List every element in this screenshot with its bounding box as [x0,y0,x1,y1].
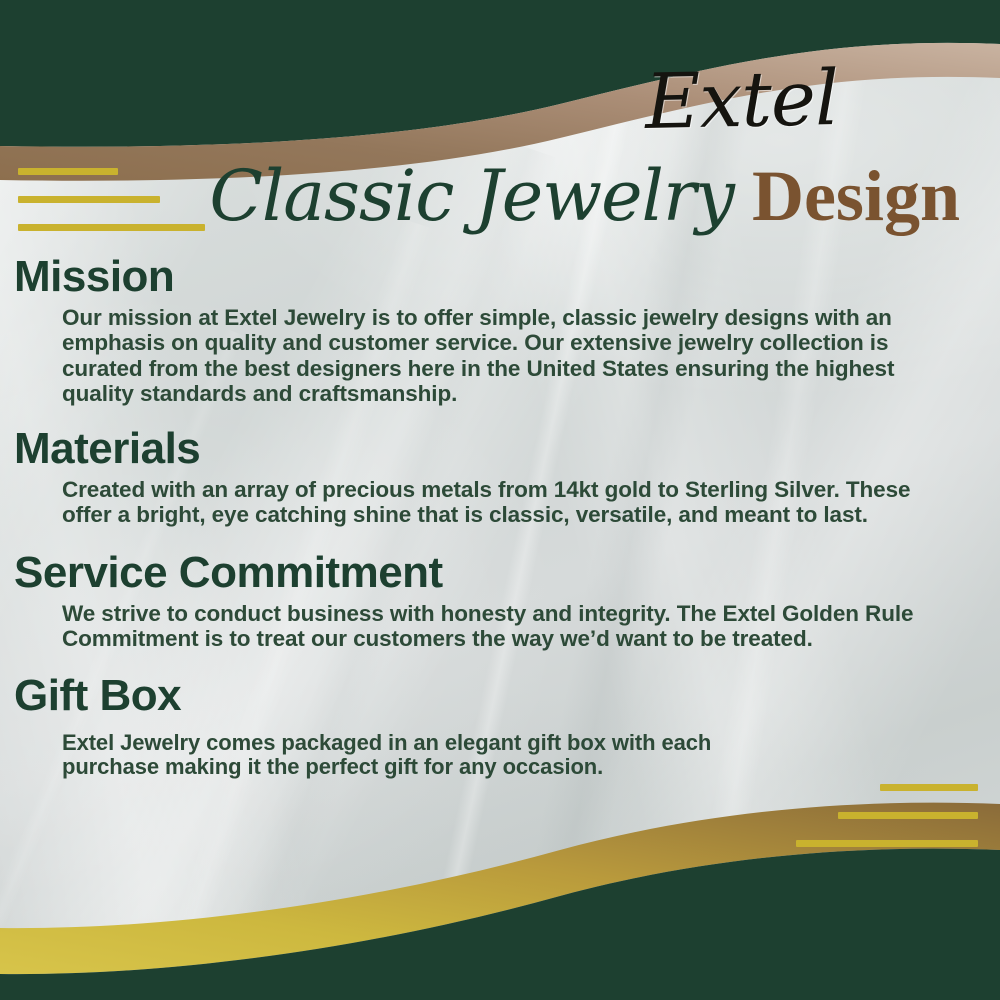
section-body: Created with an array of precious metals… [62,477,966,527]
title-primary: Classic Jewelry [209,161,734,231]
decorative-rule [838,812,978,819]
decorative-rule [796,840,978,847]
poster-canvas: Extel Classic Jewelry Design Mission Our… [0,0,1000,1000]
section-materials: Materials Created with an array of preci… [0,424,1000,528]
title-secondary: Design [752,160,960,232]
decorative-rule [18,196,160,203]
section-heading: Gift Box [14,671,1000,720]
section-heading: Mission [14,252,1000,301]
decorative-rules-left [18,168,205,231]
section-body: We strive to conduct business with hones… [62,601,966,651]
brand-wordmark: Extel [644,60,839,140]
section-body: Extel Jewelry comes packaged in an elega… [62,731,800,780]
content-sections: Mission Our mission at Extel Jewelry is … [0,252,1000,786]
decorative-rules-right [796,784,978,847]
section-body: Our mission at Extel Jewelry is to offer… [62,305,966,406]
section-service-commitment: Service Commitment We strive to conduct … [0,548,1000,652]
section-heading: Service Commitment [14,548,1000,597]
section-mission: Mission Our mission at Extel Jewelry is … [0,252,1000,406]
decorative-rule [18,168,118,175]
section-heading: Materials [14,424,1000,473]
decorative-rule [18,224,205,231]
section-gift-box: Gift Box Extel Jewelry comes packaged in… [0,671,1000,780]
